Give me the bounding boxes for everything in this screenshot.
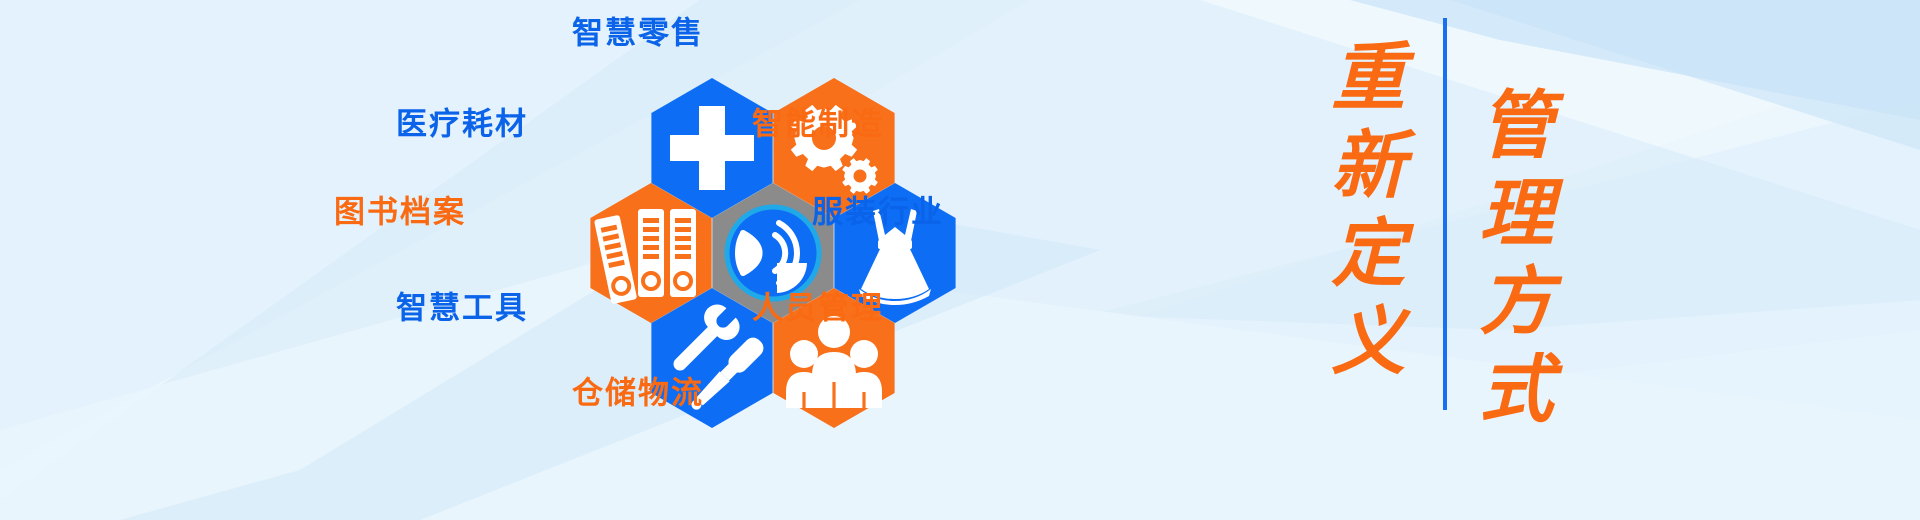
label-warehouse-logistics: 仓储物流 [572,378,704,409]
label-smart-tools: 智慧工具 [396,293,528,324]
label-staff-management: 人员管理 [752,293,884,324]
slogan-divider [1443,18,1447,410]
hexagon-cluster [0,0,1920,520]
binders-icon [594,209,696,304]
slogan-column-right: 管理方式 [1468,62,1551,462]
label-smart-manufacturing: 智能制造 [752,109,884,140]
label-smart-retail: 智慧零售 [572,18,704,49]
rfid-signal-icon [727,207,819,299]
label-apparel-industry: 服装行业 [812,197,944,228]
label-books-archives: 图书档案 [334,197,466,228]
banner-root: 智慧零售 医疗耗材 智能制造 图书档案 服装行业 智慧工具 人员管理 仓储物流 … [0,0,1920,520]
slogan-column-left: 重新定义 [1320,14,1403,414]
label-medical-supplies: 医疗耗材 [396,109,528,140]
